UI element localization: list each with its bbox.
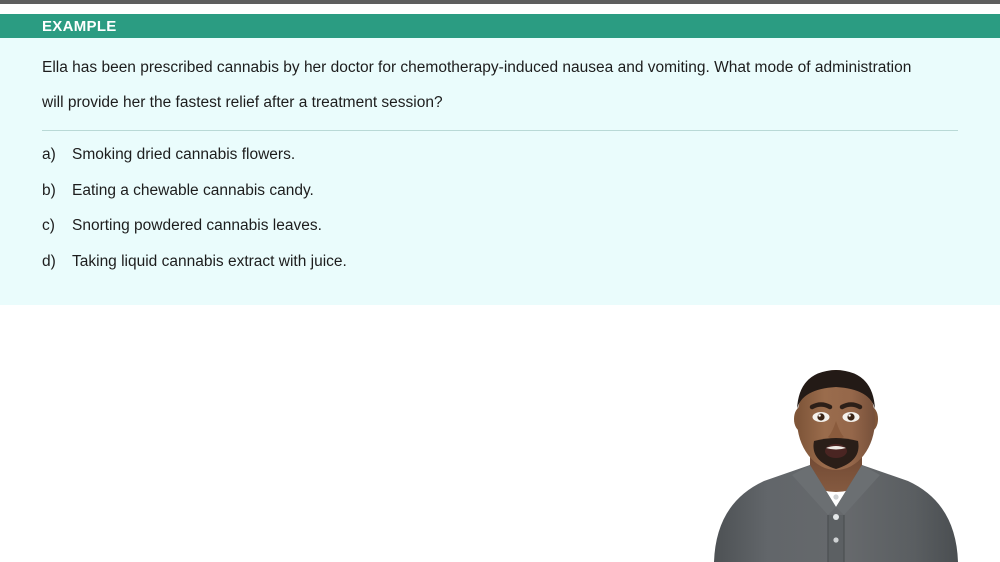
answer-option-c[interactable]: c) Snorting powdered cannabis leaves. bbox=[42, 208, 958, 244]
instructor-video-overlay bbox=[702, 357, 970, 562]
answer-text-c: Snorting powdered cannabis leaves. bbox=[72, 208, 958, 244]
shirt-button-bottom bbox=[833, 537, 838, 542]
answer-letter-a: a) bbox=[42, 137, 72, 173]
answer-letter-b: b) bbox=[42, 173, 72, 209]
answer-options-list: a) Smoking dried cannabis flowers. b) Ea… bbox=[42, 137, 958, 279]
iris-right bbox=[847, 413, 854, 420]
shirt-button-top bbox=[833, 494, 838, 499]
answer-option-b[interactable]: b) Eating a chewable cannabis candy. bbox=[42, 173, 958, 209]
answer-option-d[interactable]: d) Taking liquid cannabis extract with j… bbox=[42, 244, 958, 280]
example-callout: EXAMPLE Ella has been prescribed cannabi… bbox=[0, 14, 1000, 305]
answer-option-a[interactable]: a) Smoking dried cannabis flowers. bbox=[42, 137, 958, 173]
answer-text-a: Smoking dried cannabis flowers. bbox=[72, 137, 958, 173]
eye-highlight-left bbox=[818, 414, 820, 416]
answer-letter-d: d) bbox=[42, 244, 72, 280]
answer-text-b: Eating a chewable cannabis candy. bbox=[72, 173, 958, 209]
shirt-button-middle bbox=[833, 514, 839, 520]
eyebrow-left bbox=[812, 405, 830, 408]
eyebrow-right bbox=[842, 405, 860, 408]
eye-highlight-right bbox=[848, 414, 850, 416]
answer-letter-c: c) bbox=[42, 208, 72, 244]
answer-text-d: Taking liquid cannabis extract with juic… bbox=[72, 244, 958, 280]
question-text: Ella has been prescribed cannabis by her… bbox=[42, 50, 922, 120]
top-chrome-bar bbox=[0, 0, 1000, 4]
iris-left bbox=[817, 413, 824, 420]
example-header-bar: EXAMPLE bbox=[0, 14, 1000, 38]
example-header-label: EXAMPLE bbox=[42, 19, 117, 34]
example-body: Ella has been prescribed cannabis by her… bbox=[0, 38, 1000, 305]
instructor-portrait bbox=[702, 357, 970, 562]
answer-divider bbox=[42, 130, 958, 131]
